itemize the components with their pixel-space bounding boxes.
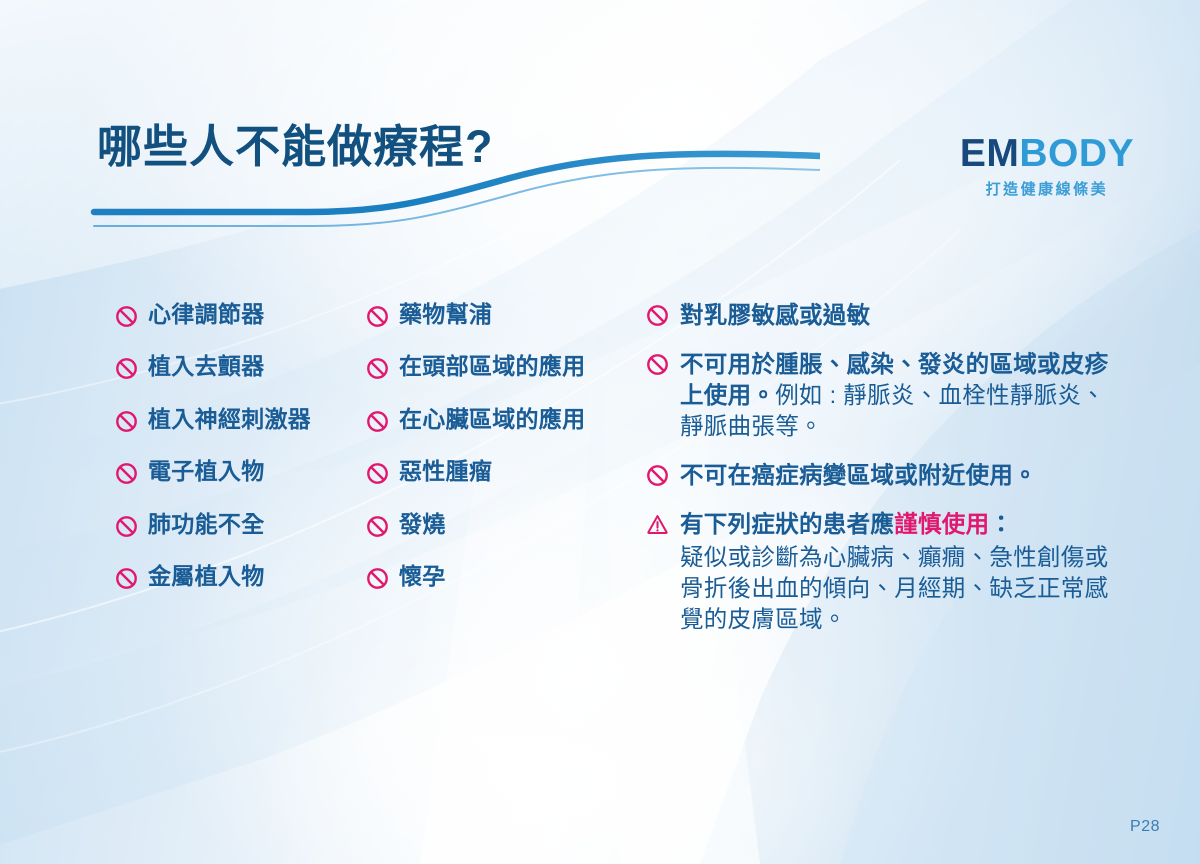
logo-body-text: BODY bbox=[1019, 132, 1134, 175]
list-item-label: 電子植入物 bbox=[148, 457, 265, 486]
prohibition-icon bbox=[366, 305, 389, 328]
list-item: 發燒 bbox=[366, 510, 626, 539]
warning-triangle-icon bbox=[646, 513, 669, 536]
list-item-label: 植入去顫器 bbox=[148, 352, 265, 381]
list-item: 植入神經刺激器 bbox=[115, 405, 365, 434]
list-item: 電子植入物 bbox=[115, 457, 365, 486]
logo-tagline: 打造健康線條美 bbox=[960, 182, 1134, 197]
prohibition-icon bbox=[366, 462, 389, 485]
logo-wordmark: EMBODY bbox=[960, 134, 1134, 173]
list-item: 肺功能不全 bbox=[115, 510, 365, 539]
list-item-label: 在心臟區域的應用 bbox=[399, 405, 585, 434]
list-item-label: 肺功能不全 bbox=[148, 510, 265, 539]
prohibition-icon bbox=[646, 353, 669, 376]
prohibition-icon bbox=[646, 304, 669, 327]
list-item-label: 發燒 bbox=[399, 510, 446, 539]
list-item: 懷孕 bbox=[366, 562, 626, 591]
list-item-highlight-text: 謹慎使用 bbox=[894, 511, 989, 537]
list-item-label: 有下列症狀的患者應謹慎使用：疑似或診斷為心臟病、癲癇、急性創傷或骨折後出血的傾向… bbox=[680, 509, 1116, 635]
list-item-label: 對乳膠敏感或過敏 bbox=[680, 300, 870, 331]
list-column-1: 心律調節器 植入去顫器 植入神經刺激器 bbox=[115, 300, 365, 615]
prohibition-icon bbox=[115, 462, 138, 485]
prohibition-icon bbox=[115, 515, 138, 538]
list-item-label: 懷孕 bbox=[399, 562, 446, 591]
slide-header: 哪些人不能做療程? EMBODY bbox=[0, 0, 1200, 230]
list-column-2: 藥物幫浦 在頭部區域的應用 在心臟區域的應用 bbox=[366, 300, 626, 615]
list-item-colon: ： bbox=[989, 511, 1013, 537]
list-item-bold-text: 不可在癌症病變區域或附近使用。 bbox=[680, 462, 1037, 488]
prohibition-icon bbox=[366, 410, 389, 433]
list-column-3: 對乳膠敏感或過敏 不可用於腫脹、感染、發炎的區域或皮疹上使用。例如 : 靜脈炎、… bbox=[646, 300, 1116, 653]
list-item: 藥物幫浦 bbox=[366, 300, 626, 329]
slide-root: 哪些人不能做療程? EMBODY bbox=[0, 0, 1200, 864]
embody-logo: EMBODY 打造健康線條美 bbox=[960, 134, 1134, 197]
list-item-label: 不可用於腫脹、感染、發炎的區域或皮疹上使用。例如 : 靜脈炎、血栓性靜脈炎、靜脈… bbox=[680, 349, 1116, 442]
list-item-bold-text: 對乳膠敏感或過敏 bbox=[680, 302, 870, 328]
prohibition-icon bbox=[115, 357, 138, 380]
list-item-label: 心律調節器 bbox=[148, 300, 265, 329]
list-item-caution: 有下列症狀的患者應謹慎使用：疑似或診斷為心臟病、癲癇、急性創傷或骨折後出血的傾向… bbox=[646, 509, 1116, 635]
page-number: P28 bbox=[1130, 818, 1160, 836]
list-item-label: 植入神經刺激器 bbox=[148, 405, 311, 434]
prohibition-icon bbox=[366, 515, 389, 538]
prohibition-icon bbox=[115, 305, 138, 328]
list-item-label: 在頭部區域的應用 bbox=[399, 352, 585, 381]
list-item: 金屬植入物 bbox=[115, 562, 365, 591]
title-underline-swoosh bbox=[90, 150, 820, 230]
list-item-label: 惡性腫瘤 bbox=[399, 457, 492, 486]
list-item: 惡性腫瘤 bbox=[366, 457, 626, 486]
list-item-label: 藥物幫浦 bbox=[399, 300, 492, 329]
list-item-bold-text: 有下列症狀的患者應 bbox=[680, 511, 894, 537]
list-item: 在心臟區域的應用 bbox=[366, 405, 626, 434]
prohibition-icon bbox=[366, 567, 389, 590]
list-item: 不可在癌症病變區域或附近使用。 bbox=[646, 460, 1116, 491]
list-item: 對乳膠敏感或過敏 bbox=[646, 300, 1116, 331]
prohibition-icon bbox=[115, 410, 138, 433]
list-item-label: 不可在癌症病變區域或附近使用。 bbox=[680, 460, 1037, 491]
list-item-detail-text: 疑似或診斷為心臟病、癲癇、急性創傷或骨折後出血的傾向、月經期、缺乏正常感覺的皮膚… bbox=[680, 542, 1116, 635]
list-item: 在頭部區域的應用 bbox=[366, 352, 626, 381]
prohibition-icon bbox=[115, 567, 138, 590]
list-item: 心律調節器 bbox=[115, 300, 365, 329]
prohibition-icon bbox=[646, 464, 669, 487]
logo-em-text: EM bbox=[960, 132, 1020, 175]
list-item: 不可用於腫脹、感染、發炎的區域或皮疹上使用。例如 : 靜脈炎、血栓性靜脈炎、靜脈… bbox=[646, 349, 1116, 442]
list-item-label: 金屬植入物 bbox=[148, 562, 265, 591]
prohibition-icon bbox=[366, 357, 389, 380]
list-item: 植入去顫器 bbox=[115, 352, 365, 381]
